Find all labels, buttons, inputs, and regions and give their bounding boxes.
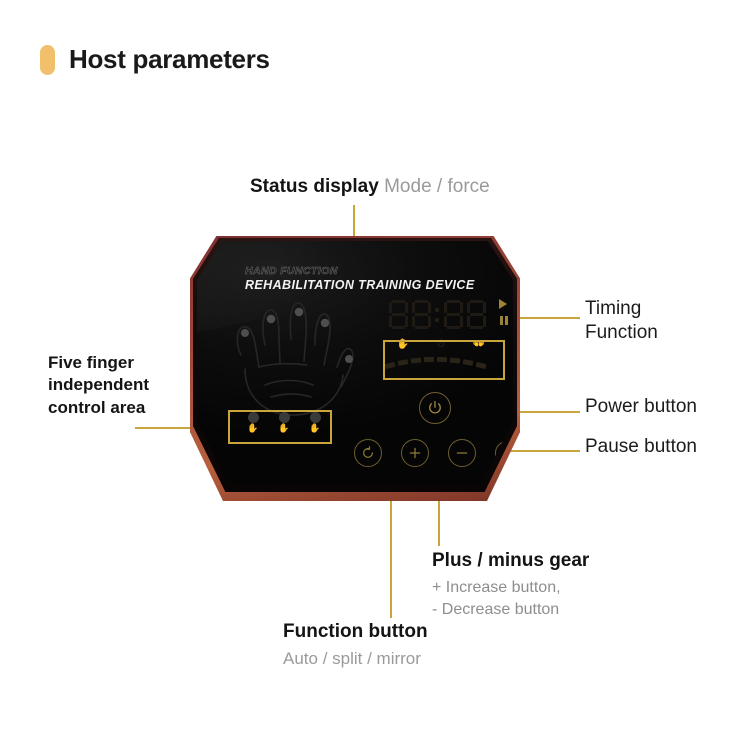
minus-icon: [454, 445, 470, 461]
device-brand: HAND FUNCTION REHABILITATION TRAINING DE…: [245, 265, 475, 292]
display-colon-icon: [435, 300, 440, 329]
plus-icon: [407, 445, 423, 461]
annotation-five-finger-line3: control area: [48, 397, 208, 419]
increase-button[interactable]: [401, 439, 429, 467]
annotation-pause-button: Pause button: [585, 436, 697, 458]
annotation-five-finger-line1: Five finger: [48, 352, 208, 374]
refresh-icon: [360, 445, 376, 461]
hand-silhouette-icon: [215, 293, 365, 421]
page-title: Host parameters: [69, 44, 270, 75]
accent-bar-icon: [40, 45, 55, 75]
function-button[interactable]: [354, 439, 382, 467]
highlight-box-status-display: [383, 340, 505, 380]
annotation-plus-minus-title: Plus / minus gear: [432, 550, 589, 572]
display-digit-4: [467, 300, 486, 329]
annotation-plus-minus: Plus / minus gear + Increase button, - D…: [432, 550, 589, 622]
page-root: Host parameters Status display Mode / fo…: [0, 0, 750, 750]
annotation-timing-function-line1: Timing: [585, 297, 725, 321]
annotation-status-display-title: Status display: [250, 176, 379, 197]
display-digit-3: [444, 300, 463, 329]
annotation-function-button-title: Function button: [283, 621, 428, 643]
status-display-digits: [389, 299, 493, 329]
power-icon: [426, 399, 444, 417]
annotation-five-finger: Five finger independent control area: [48, 352, 208, 419]
annotation-status-display-subtitle: Mode / force: [384, 176, 490, 197]
annotation-function-button-subtitle: Auto / split / mirror: [283, 649, 428, 669]
pause-icon: [500, 316, 508, 325]
highlight-box-finger-control: [228, 410, 332, 444]
control-button-row: [354, 439, 513, 469]
annotation-timing-function: Timing Function: [585, 297, 725, 346]
annotation-timing-function-line2: Function: [585, 321, 725, 345]
decrease-button[interactable]: [448, 439, 476, 467]
power-button[interactable]: [419, 392, 451, 424]
device-brand-line2: REHABILITATION TRAINING DEVICE: [245, 278, 475, 292]
play-icon: [499, 299, 507, 309]
annotation-plus-minus-sub1: + Increase button,: [432, 577, 589, 599]
annotation-status-display: Status display Mode / force: [250, 176, 490, 198]
annotation-function-button: Function button Auto / split / mirror: [283, 621, 428, 669]
annotation-five-finger-line2: independent: [48, 374, 208, 396]
display-status-indicators: [497, 297, 513, 329]
device-brand-line1: HAND FUNCTION: [245, 265, 475, 277]
annotation-plus-minus-sub2: - Decrease button: [432, 599, 589, 621]
annotation-power-button: Power button: [585, 396, 697, 418]
display-digit-1: [389, 300, 408, 329]
page-header: Host parameters: [40, 44, 270, 75]
display-digit-2: [412, 300, 431, 329]
